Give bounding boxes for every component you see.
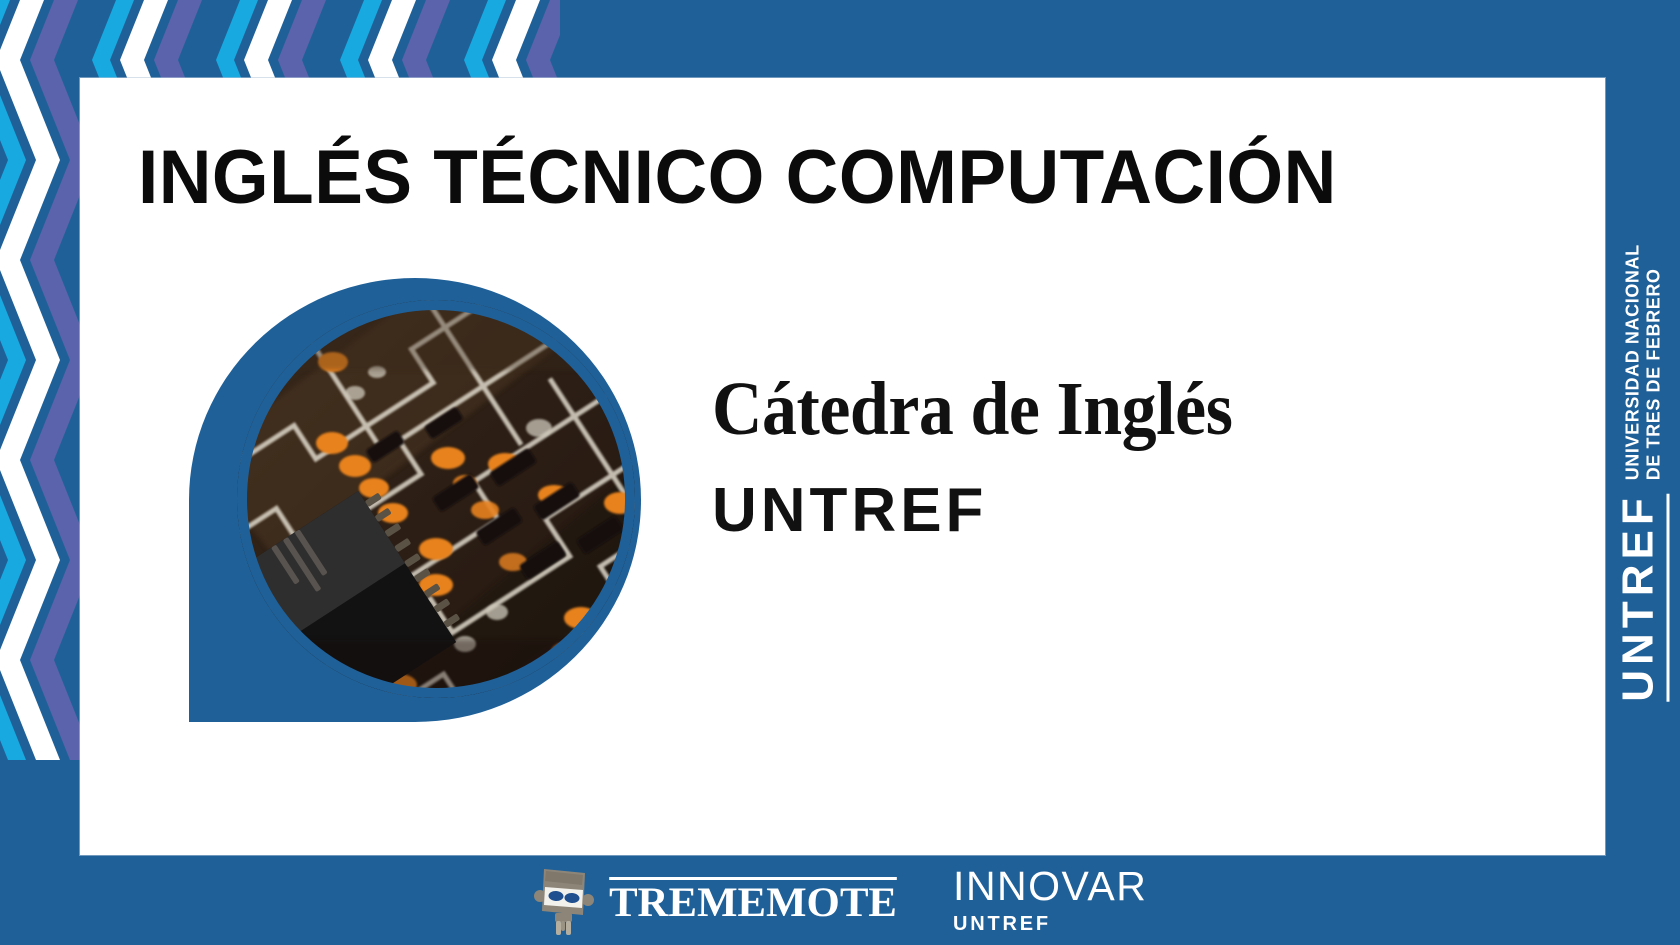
untref-vertical-logo: UNTREF UNIVERSIDAD NACIONAL DE TRES DE F… [1605,0,1680,945]
robot-head-icon [533,863,595,937]
untref-logo-wordmark: UNTREF [1616,493,1669,701]
untref-tagline-line1: UNIVERSIDAD NACIONAL [1622,244,1642,480]
content-panel: INGLÉS TÉCNICO COMPUTACIÓN [80,78,1605,855]
footer-logo-strip: TREMEMOTE INNOVAR UNTREF [0,855,1680,945]
innovar-logo: INNOVAR UNTREF [953,866,1147,934]
untref-logo-tagline: UNIVERSIDAD NACIONAL DE TRES DE FEBRERO [1622,244,1662,480]
page-title: INGLÉS TÉCNICO COMPUTACIÓN [138,138,1501,218]
trememote-logo: TREMEMOTE [533,863,891,937]
subtitle-primary: Cátedra de Inglés [712,368,1232,452]
circuit-image-block [189,278,641,722]
innovar-subtext: UNTREF [953,914,1147,934]
circuit-board-photo [237,300,635,698]
trememote-wordmark: TREMEMOTE [608,877,896,924]
untref-tagline-line2: DE TRES DE FEBRERO [1643,244,1663,480]
subtitle-secondary: UNTREF [712,478,1278,543]
innovar-wordmark: INNOVAR [953,866,1147,907]
subtitle-group: Cátedra de Inglés UNTREF [712,368,1278,543]
slide-canvas: INGLÉS TÉCNICO COMPUTACIÓN [0,0,1680,945]
